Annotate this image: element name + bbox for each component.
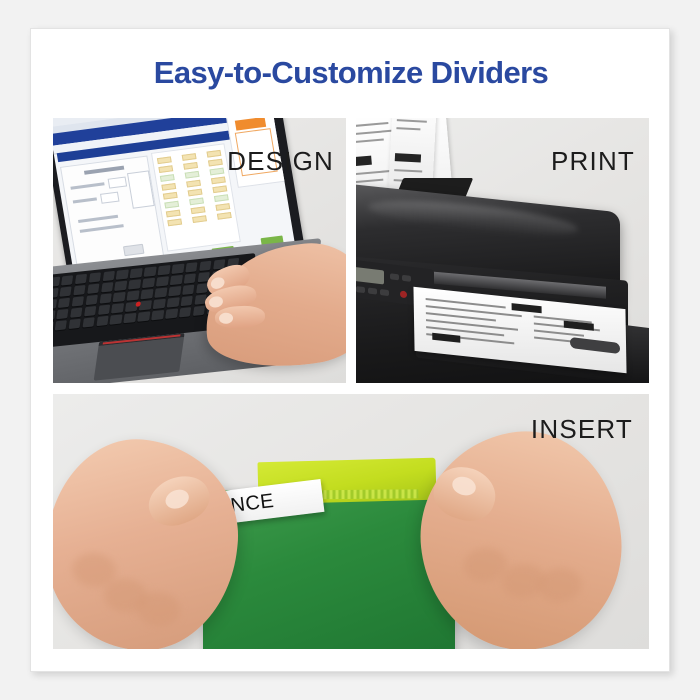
design-form-panel: [60, 155, 164, 269]
printer-button[interactable]: [390, 273, 399, 280]
panel-design: DESIGN: [53, 118, 346, 383]
form-input-box: [108, 176, 128, 188]
printer-power-button[interactable]: [400, 290, 407, 298]
template-cell[interactable]: [167, 219, 182, 227]
product-card: Easy-to-Customize Dividers: [30, 28, 670, 672]
divider-tab-mark: [395, 153, 421, 162]
template-cell[interactable]: [189, 198, 204, 206]
thumb: [141, 468, 216, 534]
template-cell[interactable]: [212, 185, 227, 193]
template-cell[interactable]: [183, 162, 198, 170]
form-field-label: [70, 182, 104, 189]
template-cell[interactable]: [160, 174, 175, 182]
form-field-label: [78, 215, 118, 223]
panel-tag-print: PRINT: [551, 146, 635, 177]
template-cell[interactable]: [208, 159, 223, 167]
divider-tab-mark: [432, 333, 460, 343]
form-cancel-button[interactable]: [123, 244, 144, 256]
template-cell[interactable]: [209, 168, 224, 176]
printer-button[interactable]: [380, 289, 389, 296]
finger: [214, 305, 265, 330]
template-cell[interactable]: [158, 165, 173, 173]
template-cell[interactable]: [157, 156, 172, 164]
template-cell[interactable]: [182, 153, 197, 161]
template-cell[interactable]: [166, 210, 181, 218]
thumbnail: [163, 486, 192, 512]
template-cell[interactable]: [215, 203, 230, 211]
form-title-placeholder: [84, 166, 124, 175]
form-input-box: [100, 192, 120, 204]
template-cell[interactable]: [211, 176, 226, 184]
template-cell[interactable]: [163, 192, 178, 200]
form-field-label: [73, 197, 97, 203]
fingernail: [208, 295, 224, 309]
thumbnail: [450, 474, 478, 499]
panel-tag-insert: INSERT: [531, 414, 633, 445]
template-cell[interactable]: [188, 189, 203, 197]
template-cell[interactable]: [161, 183, 176, 191]
template-cell[interactable]: [214, 194, 229, 202]
printer-button[interactable]: [356, 286, 365, 293]
printer-lcd-screen: [356, 267, 384, 285]
form-field-label: [80, 224, 124, 233]
laptop-trackpad[interactable]: [94, 333, 185, 381]
page-background: Easy-to-Customize Dividers: [0, 0, 700, 700]
panel-tag-design: DESIGN: [227, 146, 334, 177]
panel-insert: FINANCE INSERT: [53, 394, 649, 649]
template-cell[interactable]: [186, 180, 201, 188]
printer-button[interactable]: [402, 275, 411, 282]
divider-tab-mark: [512, 303, 542, 313]
template-cell[interactable]: [191, 206, 206, 214]
panel-print: PRINT: [356, 118, 649, 383]
printer-button[interactable]: [368, 288, 377, 295]
divider-tab-mark: [356, 156, 372, 168]
template-cell[interactable]: [192, 215, 207, 223]
form-preview-box: [127, 170, 155, 208]
template-cell[interactable]: [206, 150, 221, 158]
template-cell[interactable]: [185, 171, 200, 179]
fingernail: [219, 312, 234, 324]
template-cell[interactable]: [217, 212, 232, 220]
template-cell[interactable]: [164, 201, 179, 209]
page-title: Easy-to-Customize Dividers: [31, 55, 671, 91]
